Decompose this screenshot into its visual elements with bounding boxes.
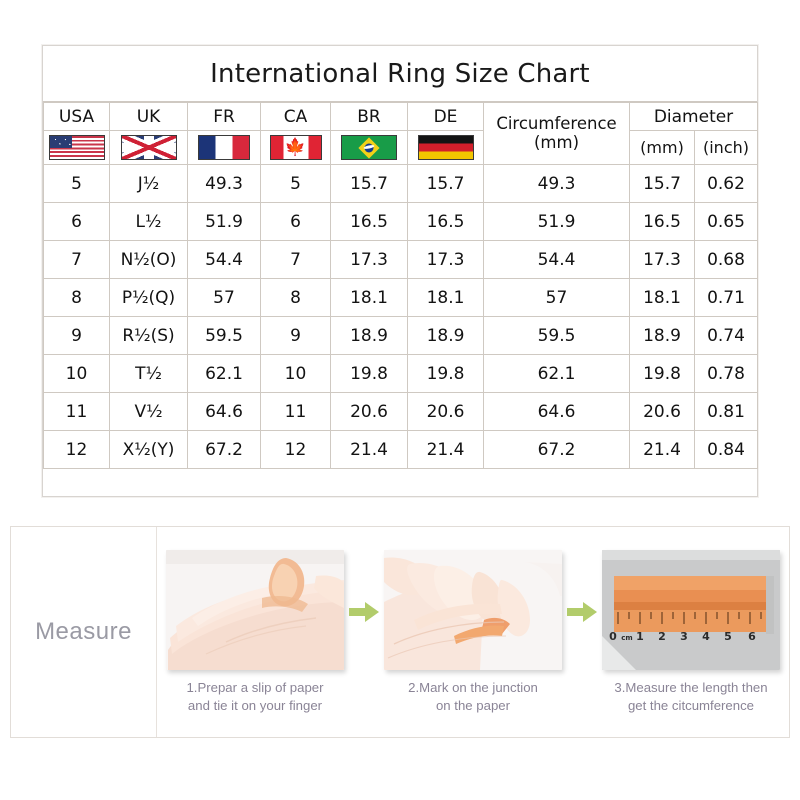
cell-fr: 67.2 bbox=[188, 431, 261, 469]
cell-diameter-mm: 15.7 bbox=[630, 165, 695, 203]
france-flag-cell bbox=[188, 131, 261, 165]
cell-uk: L½ bbox=[110, 203, 188, 241]
table-row: 10 T½ 62.1 10 19.8 19.8 62.1 19.8 0.78 bbox=[44, 355, 758, 393]
uk-flag-icon bbox=[121, 135, 177, 160]
usa-flag-icon bbox=[49, 135, 105, 160]
cell-circumference-mm: 51.9 bbox=[484, 203, 630, 241]
column-header-diameter: Diameter bbox=[630, 103, 758, 131]
table-body: 5 J½ 49.3 5 15.7 15.7 49.3 15.7 0.62 6 L… bbox=[44, 165, 758, 469]
cell-de: 18.9 bbox=[408, 317, 484, 355]
brazil-flag-icon bbox=[341, 135, 397, 160]
measure-step-2: 2.Mark on the junction on the paper bbox=[381, 550, 565, 714]
marking-junction-on-paper-photo bbox=[384, 550, 562, 670]
measure-step-3: 0 cm 1 2 3 4 5 6 3.Measure the length th… bbox=[599, 550, 783, 714]
cell-br: 16.5 bbox=[331, 203, 408, 241]
cell-usa: 7 bbox=[44, 241, 110, 279]
cell-br: 18.9 bbox=[331, 317, 408, 355]
table-row: 11 V½ 64.6 11 20.6 20.6 64.6 20.6 0.81 bbox=[44, 393, 758, 431]
page-title: International Ring Size Chart bbox=[43, 46, 757, 102]
cell-br: 20.6 bbox=[331, 393, 408, 431]
cell-uk: J½ bbox=[110, 165, 188, 203]
column-header-ca: CA bbox=[261, 103, 331, 131]
cell-fr: 49.3 bbox=[188, 165, 261, 203]
cell-diameter-mm: 20.6 bbox=[630, 393, 695, 431]
circumference-unit: (mm) bbox=[534, 133, 579, 152]
column-header-diameter-inch: (inch) bbox=[695, 131, 758, 165]
cell-br: 21.4 bbox=[331, 431, 408, 469]
cell-uk: P½(Q) bbox=[110, 279, 188, 317]
cell-circumference-mm: 67.2 bbox=[484, 431, 630, 469]
circumference-label: Circumference bbox=[496, 114, 616, 133]
brazil-globe-shape bbox=[365, 143, 374, 152]
cell-diameter-inch: 0.74 bbox=[695, 317, 758, 355]
cell-usa: 8 bbox=[44, 279, 110, 317]
cell-uk: V½ bbox=[110, 393, 188, 431]
table-row: 7 N½(O) 54.4 7 17.3 17.3 54.4 17.3 0.68 bbox=[44, 241, 758, 279]
canada-flag-icon: 🍁 bbox=[270, 135, 322, 160]
cell-ca: 7 bbox=[261, 241, 331, 279]
svg-text:2: 2 bbox=[658, 630, 666, 643]
svg-text:3: 3 bbox=[680, 630, 688, 643]
measure-step-3-caption-line2: get the citcumference bbox=[614, 697, 767, 714]
paper-strip-on-ruler-photo: 0 cm 1 2 3 4 5 6 bbox=[602, 550, 780, 670]
uk-flag-cell bbox=[110, 131, 188, 165]
measure-step-2-caption: 2.Mark on the junction on the paper bbox=[408, 679, 538, 714]
table-header-labels-row: USA UK FR CA BR DE Circumference (mm) Di… bbox=[44, 103, 758, 131]
ring-size-table: USA UK FR CA BR DE Circumference (mm) Di… bbox=[43, 102, 758, 469]
cell-uk: T½ bbox=[110, 355, 188, 393]
cell-usa: 12 bbox=[44, 431, 110, 469]
cell-fr: 59.5 bbox=[188, 317, 261, 355]
cell-de: 19.8 bbox=[408, 355, 484, 393]
cell-fr: 51.9 bbox=[188, 203, 261, 241]
cell-de: 16.5 bbox=[408, 203, 484, 241]
measure-step-3-caption: 3.Measure the length then get the citcum… bbox=[614, 679, 767, 714]
cell-circumference-mm: 49.3 bbox=[484, 165, 630, 203]
cell-diameter-inch: 0.62 bbox=[695, 165, 758, 203]
cell-diameter-mm: 17.3 bbox=[630, 241, 695, 279]
cell-uk: X½(Y) bbox=[110, 431, 188, 469]
measure-step-2-caption-line1: 2.Mark on the junction bbox=[408, 679, 538, 696]
cell-circumference-mm: 64.6 bbox=[484, 393, 630, 431]
cell-ca: 5 bbox=[261, 165, 331, 203]
cell-uk: R½(S) bbox=[110, 317, 188, 355]
cell-br: 15.7 bbox=[331, 165, 408, 203]
cell-fr: 64.6 bbox=[188, 393, 261, 431]
svg-text:4: 4 bbox=[702, 630, 710, 643]
cell-de: 15.7 bbox=[408, 165, 484, 203]
cell-fr: 57 bbox=[188, 279, 261, 317]
column-header-de: DE bbox=[408, 103, 484, 131]
measure-step-3-caption-line1: 3.Measure the length then bbox=[614, 679, 767, 696]
canada-flag-cell: 🍁 bbox=[261, 131, 331, 165]
cell-ca: 9 bbox=[261, 317, 331, 355]
svg-text:5: 5 bbox=[724, 630, 732, 643]
germany-flag-icon bbox=[418, 135, 474, 160]
cell-de: 18.1 bbox=[408, 279, 484, 317]
cell-diameter-mm: 16.5 bbox=[630, 203, 695, 241]
arrow-right-icon-2 bbox=[567, 599, 597, 625]
measure-step-1-caption: 1.Prepar a slip of paper and tie it on y… bbox=[186, 679, 323, 714]
measure-step-2-caption-line2: on the paper bbox=[408, 697, 538, 714]
cell-ca: 6 bbox=[261, 203, 331, 241]
column-header-circumference: Circumference (mm) bbox=[484, 103, 630, 165]
cell-usa: 11 bbox=[44, 393, 110, 431]
column-header-fr: FR bbox=[188, 103, 261, 131]
cell-ca: 8 bbox=[261, 279, 331, 317]
cell-diameter-inch: 0.65 bbox=[695, 203, 758, 241]
measure-steps-row: 1.Prepar a slip of paper and tie it on y… bbox=[157, 527, 789, 737]
cell-diameter-mm: 18.1 bbox=[630, 279, 695, 317]
measure-label: Measure bbox=[35, 618, 132, 646]
cell-circumference-mm: 54.4 bbox=[484, 241, 630, 279]
measure-step-1-caption-line2: and tie it on your finger bbox=[186, 697, 323, 714]
cell-circumference-mm: 59.5 bbox=[484, 317, 630, 355]
cell-fr: 54.4 bbox=[188, 241, 261, 279]
svg-text:0: 0 bbox=[609, 630, 617, 643]
cell-usa: 6 bbox=[44, 203, 110, 241]
column-header-br: BR bbox=[331, 103, 408, 131]
measure-step-1-caption-line1: 1.Prepar a slip of paper bbox=[186, 679, 323, 696]
maple-leaf-icon: 🍁 bbox=[285, 139, 306, 156]
cell-fr: 62.1 bbox=[188, 355, 261, 393]
cell-de: 21.4 bbox=[408, 431, 484, 469]
cell-usa: 9 bbox=[44, 317, 110, 355]
cell-diameter-inch: 0.84 bbox=[695, 431, 758, 469]
cell-diameter-inch: 0.68 bbox=[695, 241, 758, 279]
cell-usa: 10 bbox=[44, 355, 110, 393]
measure-instructions-card: Measure bbox=[10, 526, 790, 738]
cell-diameter-mm: 18.9 bbox=[630, 317, 695, 355]
cell-diameter-inch: 0.78 bbox=[695, 355, 758, 393]
cell-diameter-mm: 19.8 bbox=[630, 355, 695, 393]
cell-ca: 10 bbox=[261, 355, 331, 393]
usa-flag-cell bbox=[44, 131, 110, 165]
svg-text:6: 6 bbox=[748, 630, 756, 643]
table-row: 5 J½ 49.3 5 15.7 15.7 49.3 15.7 0.62 bbox=[44, 165, 758, 203]
cell-br: 17.3 bbox=[331, 241, 408, 279]
cell-de: 17.3 bbox=[408, 241, 484, 279]
ring-size-chart-card: International Ring Size Chart USA UK FR … bbox=[42, 45, 758, 497]
cell-usa: 5 bbox=[44, 165, 110, 203]
table-row: 9 R½(S) 59.5 9 18.9 18.9 59.5 18.9 0.74 bbox=[44, 317, 758, 355]
measure-step-1: 1.Prepar a slip of paper and tie it on y… bbox=[163, 550, 347, 714]
measure-label-column: Measure bbox=[11, 527, 157, 737]
cell-diameter-inch: 0.81 bbox=[695, 393, 758, 431]
cell-circumference-mm: 62.1 bbox=[484, 355, 630, 393]
cell-ca: 12 bbox=[261, 431, 331, 469]
table-row: 12 X½(Y) 67.2 12 21.4 21.4 67.2 21.4 0.8… bbox=[44, 431, 758, 469]
cell-diameter-inch: 0.71 bbox=[695, 279, 758, 317]
svg-text:1: 1 bbox=[636, 630, 644, 643]
column-header-uk: UK bbox=[110, 103, 188, 131]
arrow-right-icon-1 bbox=[349, 599, 379, 625]
table-header-flags-row: 🍁 (mm) (inch) bbox=[44, 131, 758, 165]
hand-with-paper-strip-photo bbox=[166, 550, 344, 670]
cell-br: 18.1 bbox=[331, 279, 408, 317]
germany-flag-cell bbox=[408, 131, 484, 165]
cell-de: 20.6 bbox=[408, 393, 484, 431]
column-header-diameter-mm: (mm) bbox=[630, 131, 695, 165]
column-header-usa: USA bbox=[44, 103, 110, 131]
brazil-flag-cell bbox=[331, 131, 408, 165]
cell-circumference-mm: 57 bbox=[484, 279, 630, 317]
svg-text:cm: cm bbox=[621, 634, 632, 642]
table-row: 6 L½ 51.9 6 16.5 16.5 51.9 16.5 0.65 bbox=[44, 203, 758, 241]
cell-ca: 11 bbox=[261, 393, 331, 431]
cell-br: 19.8 bbox=[331, 355, 408, 393]
france-flag-icon bbox=[198, 135, 250, 160]
cell-uk: N½(O) bbox=[110, 241, 188, 279]
table-row: 8 P½(Q) 57 8 18.1 18.1 57 18.1 0.71 bbox=[44, 279, 758, 317]
cell-diameter-mm: 21.4 bbox=[630, 431, 695, 469]
